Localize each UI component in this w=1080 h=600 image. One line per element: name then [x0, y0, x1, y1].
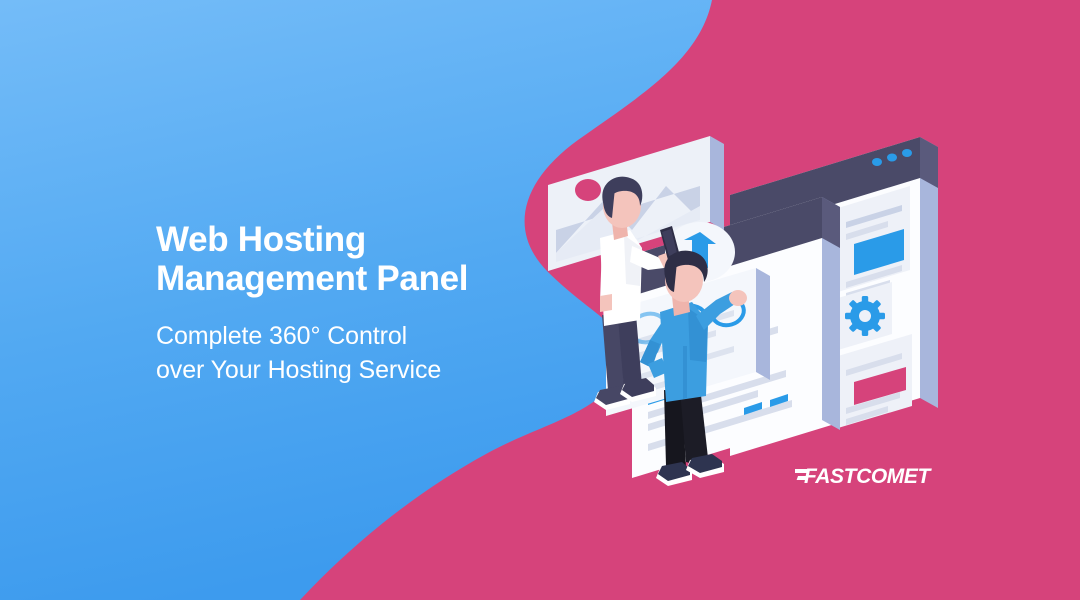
page-subtitle: Complete 360° Control over Your Hosting …	[156, 320, 676, 388]
copy-block: Web Hosting Management Panel Complete 36…	[156, 220, 676, 388]
marketing-banner: Web Hosting Management Panel Complete 36…	[0, 0, 1080, 600]
gear-icon	[845, 296, 885, 336]
brand-logo[interactable]: FASTCOMET	[795, 460, 935, 490]
page-title: Web Hosting Management Panel	[156, 220, 676, 298]
brand-logo-text: FASTCOMET	[804, 465, 932, 488]
